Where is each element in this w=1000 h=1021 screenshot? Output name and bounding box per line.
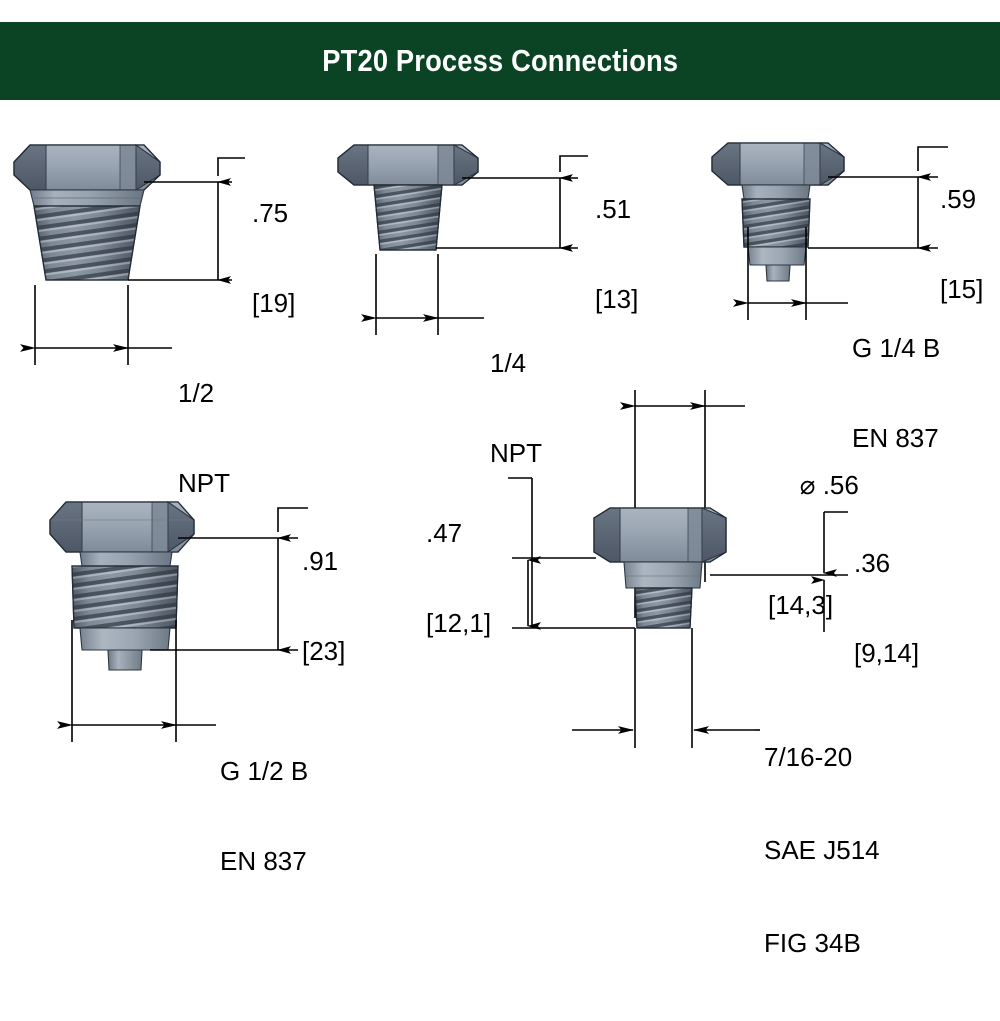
bottom-dimension-line (572, 628, 760, 748)
dim-line3: FIG 34B (764, 928, 880, 959)
dim-line1: 1/2 (178, 378, 230, 408)
figure-g-half-b: .91 [23] G 1/2 B EN 837 (20, 480, 370, 790)
hex-head (50, 502, 194, 552)
diameter-icon: ⌀ (800, 470, 816, 500)
threaded-body (34, 206, 140, 280)
page-title: PT20 Process Connections (322, 43, 678, 79)
horizontal-dimension-line (35, 285, 172, 365)
dim-metric: [15] (940, 274, 983, 304)
dim-line1: G 1/4 B (852, 333, 940, 363)
figure-g-quarter-b: .59 [15] G 1/4 B EN 837 (690, 115, 1000, 405)
vertical-dimension-text: .59 [15] (940, 124, 983, 364)
dim-value: .91 (302, 546, 345, 576)
hex-head (712, 143, 844, 185)
diameter-dimension-text: ⌀ .56 [14,3] (742, 380, 859, 680)
title-banner: PT20 Process Connections (0, 22, 1000, 100)
figure-sae-j514: ⌀ .56 [14,3] .47 [12,1] .36 [9,14] 7/16-… (420, 370, 1000, 790)
dim-metric: [14,3] (742, 590, 859, 620)
hex-head (338, 145, 478, 185)
hex-head (594, 508, 726, 562)
collar (30, 190, 144, 206)
vertical-dimension-text: .91 [23] (302, 486, 345, 726)
dim-value: .59 (940, 184, 983, 214)
dim-metric: [9,14] (854, 638, 919, 668)
collar (80, 552, 172, 566)
dim-metric: [19] (252, 288, 295, 318)
diameter-line: ⌀ .56 (742, 440, 859, 530)
horizontal-dimension-text: G 1/2 B EN 837 (220, 696, 308, 936)
left-dimension-text: .47 [12,1] (426, 458, 491, 698)
dim-line2: EN 837 (220, 846, 308, 876)
horizontal-dimension-line (376, 254, 484, 335)
threaded-body (635, 588, 692, 628)
shoulder-step (748, 247, 806, 281)
dim-metric: [23] (302, 636, 345, 666)
collar (742, 185, 810, 199)
figure-quarter-npt: .51 [13] 1/4 NPT (330, 120, 660, 410)
threaded-body (374, 185, 442, 250)
figure-half-npt: .75 [19] 1/2 NPT (0, 120, 330, 410)
dim-line1: 7/16-20 (764, 742, 880, 773)
dim-value: .47 (426, 518, 491, 548)
bottom-dimension-text: 7/16-20 SAE J514 FIG 34B (764, 680, 880, 1021)
collar (624, 562, 702, 588)
dim-value: .36 (854, 548, 919, 578)
hex-head (14, 145, 160, 190)
dim-value: .75 (252, 198, 295, 228)
vertical-dimension-text: .51 [13] (595, 134, 638, 374)
dim-metric: [13] (595, 284, 638, 314)
dim-metric: [12,1] (426, 608, 491, 638)
dim-line1: G 1/2 B (220, 756, 308, 786)
threaded-body (72, 566, 178, 628)
dim-value: .51 (595, 194, 638, 224)
dim-line2: SAE J514 (764, 835, 880, 866)
vertical-dimension-text: .75 [19] (252, 138, 295, 378)
technical-drawing-page: PT20 Process Connections (0, 0, 1000, 850)
shoulder-step (80, 628, 170, 670)
threaded-body (742, 199, 810, 247)
dim-value (815, 470, 822, 500)
